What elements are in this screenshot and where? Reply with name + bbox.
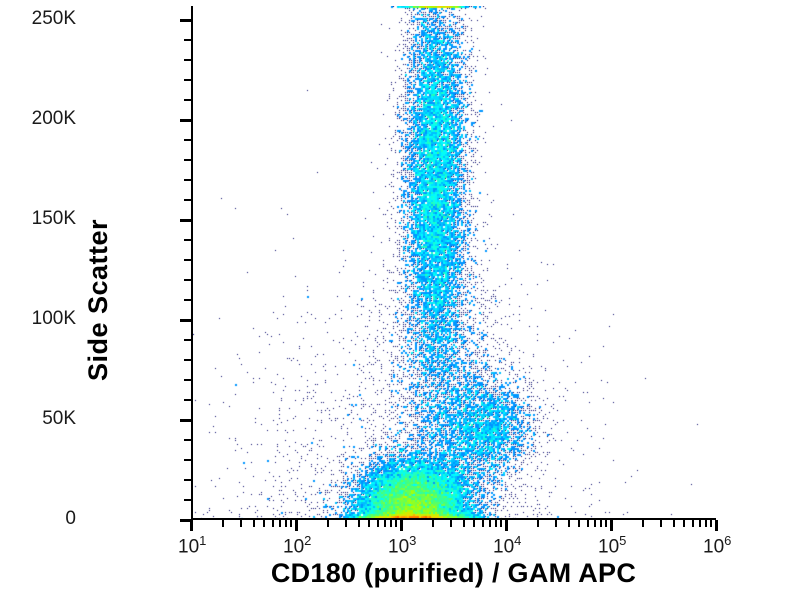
x-axis-title: CD180 (purified) / GAM APC <box>191 558 716 589</box>
x-tick-minor <box>285 520 287 527</box>
x-tick-label: 105 <box>598 533 626 558</box>
x-tick-minor <box>600 520 602 527</box>
y-tick-minor <box>184 439 191 441</box>
y-tick-label: 200K <box>32 108 76 130</box>
y-tick-label: 0 <box>65 508 76 530</box>
x-tick-label: 101 <box>178 533 206 558</box>
y-tick-minor <box>184 499 191 501</box>
x-tick-minor <box>450 520 452 527</box>
flow-cytometry-plot: Side Scatter 050K100K150K200K250K1011021… <box>0 0 800 600</box>
y-tick-minor <box>184 479 191 481</box>
plot-area <box>191 6 716 520</box>
y-tick-major <box>180 319 191 322</box>
y-tick-major <box>180 419 191 422</box>
x-tick-minor <box>384 520 386 527</box>
x-tick-major <box>400 520 403 531</box>
y-tick-minor <box>184 199 191 201</box>
x-tick-minor <box>699 520 701 527</box>
x-tick-minor <box>587 520 589 527</box>
x-tick-minor <box>432 520 434 527</box>
x-tick-label: 106 <box>703 533 731 558</box>
y-tick-label: 250K <box>32 8 76 30</box>
y-tick-minor <box>184 179 191 181</box>
x-tick-minor <box>463 520 465 527</box>
y-tick-minor <box>184 139 191 141</box>
y-tick-label: 50K <box>42 408 76 430</box>
y-tick-minor <box>184 99 191 101</box>
x-tick-minor <box>253 520 255 527</box>
x-tick-minor <box>537 520 539 527</box>
y-tick-minor <box>184 159 191 161</box>
y-tick-minor <box>184 339 191 341</box>
y-tick-minor <box>184 79 191 81</box>
y-tick-minor <box>184 359 191 361</box>
y-tick-minor <box>184 259 191 261</box>
x-tick-minor <box>263 520 265 527</box>
x-tick-major <box>295 520 298 531</box>
x-tick-minor <box>358 520 360 527</box>
x-tick-minor <box>495 520 497 527</box>
x-tick-major <box>505 520 508 531</box>
x-tick-minor <box>395 520 397 527</box>
y-tick-minor <box>184 279 191 281</box>
x-tick-minor <box>555 520 557 527</box>
y-tick-major <box>180 119 191 122</box>
x-tick-minor <box>692 520 694 527</box>
x-tick-minor <box>368 520 370 527</box>
x-tick-minor <box>683 520 685 527</box>
y-tick-minor <box>184 299 191 301</box>
x-tick-minor <box>279 520 281 527</box>
x-tick-minor <box>377 520 379 527</box>
scatter-points-canvas <box>193 6 716 520</box>
y-tick-minor <box>184 239 191 241</box>
x-tick-minor <box>578 520 580 527</box>
x-tick-label: 102 <box>283 533 311 558</box>
y-tick-minor <box>184 459 191 461</box>
x-tick-minor <box>500 520 502 527</box>
x-tick-major <box>610 520 613 531</box>
x-tick-minor <box>594 520 596 527</box>
y-tick-minor <box>184 59 191 61</box>
x-tick-minor <box>673 520 675 527</box>
x-tick-minor <box>473 520 475 527</box>
x-tick-minor <box>240 520 242 527</box>
x-tick-minor <box>642 520 644 527</box>
x-tick-minor <box>710 520 712 527</box>
x-tick-minor <box>222 520 224 527</box>
x-tick-minor <box>705 520 707 527</box>
y-tick-major <box>180 219 191 222</box>
x-tick-major <box>190 520 193 531</box>
x-tick-major <box>715 520 718 531</box>
x-tick-minor <box>605 520 607 527</box>
x-tick-minor <box>489 520 491 527</box>
x-tick-label: 104 <box>493 533 521 558</box>
x-tick-label: 103 <box>388 533 416 558</box>
y-tick-minor <box>184 39 191 41</box>
y-tick-minor <box>184 399 191 401</box>
x-tick-minor <box>568 520 570 527</box>
y-axis-title: Side Scatter <box>78 0 118 600</box>
y-tick-label: 150K <box>32 208 76 230</box>
y-tick-label: 100K <box>32 308 76 330</box>
x-tick-minor <box>660 520 662 527</box>
x-tick-minor <box>327 520 329 527</box>
y-tick-major <box>180 19 191 22</box>
x-tick-minor <box>290 520 292 527</box>
y-tick-minor <box>184 379 191 381</box>
x-tick-minor <box>272 520 274 527</box>
x-tick-minor <box>390 520 392 527</box>
x-tick-minor <box>345 520 347 527</box>
x-tick-minor <box>482 520 484 527</box>
